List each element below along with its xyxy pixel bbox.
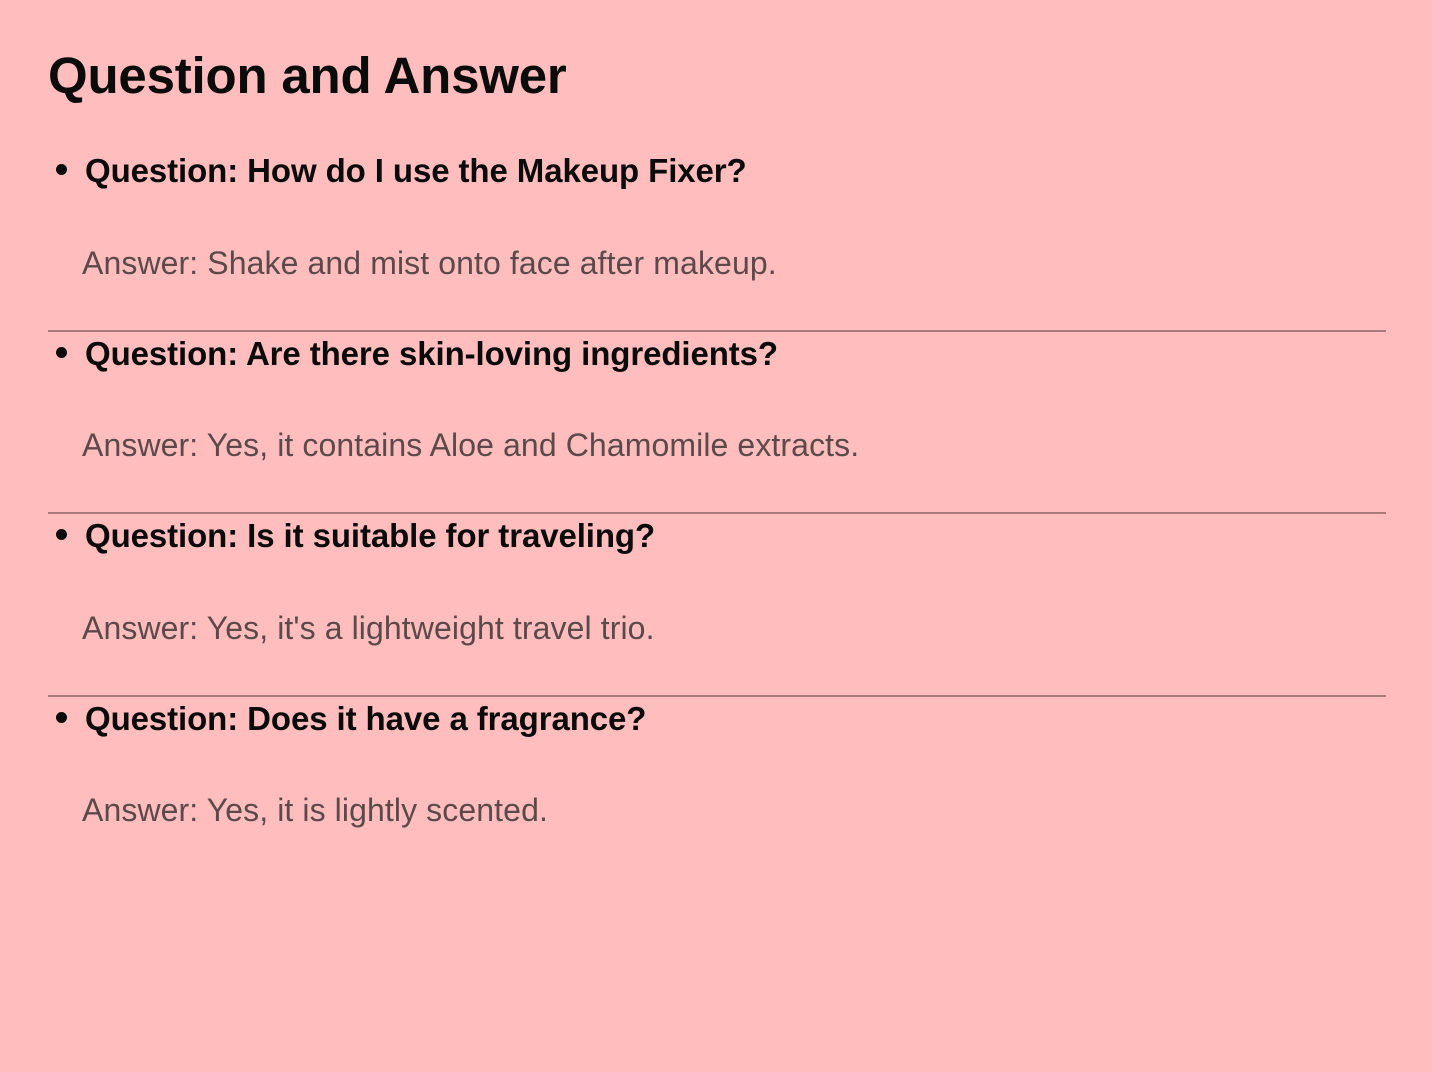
bullet-disc-icon [56,529,67,540]
question-row: Question: Are there skin-loving ingredie… [48,332,1386,374]
question-row: Question: Does it have a fragrance? [48,697,1386,739]
question-text: Question: Does it have a fragrance? [85,697,1386,739]
bullet-disc-icon [56,164,67,175]
qa-page: Question and Answer Question: How do I u… [0,0,1432,1072]
question-row: Question: How do I use the Makeup Fixer? [48,149,1386,191]
question-row: Question: Is it suitable for traveling? [48,514,1386,556]
question-text: Question: How do I use the Makeup Fixer? [85,149,1386,191]
qa-item: Question: Are there skin-loving ingredie… [48,330,1386,466]
qa-item: Question: Does it have a fragrance? Answ… [48,695,1386,831]
qa-item: Question: How do I use the Makeup Fixer?… [48,149,1386,283]
page-title: Question and Answer [48,48,1386,103]
answer-text: Answer: Yes, it's a lightweight travel t… [82,608,1386,648]
bullet-disc-icon [56,712,67,723]
question-text: Question: Are there skin-loving ingredie… [85,332,1386,374]
answer-text: Answer: Yes, it is lightly scented. [82,790,1386,830]
answer-text: Answer: Yes, it contains Aloe and Chamom… [82,425,1386,465]
answer-text: Answer: Shake and mist onto face after m… [82,243,1386,283]
qa-item: Question: Is it suitable for traveling? … [48,512,1386,648]
bullet-disc-icon [56,347,67,358]
question-text: Question: Is it suitable for traveling? [85,514,1386,556]
qa-list: Question: How do I use the Makeup Fixer?… [48,149,1386,830]
